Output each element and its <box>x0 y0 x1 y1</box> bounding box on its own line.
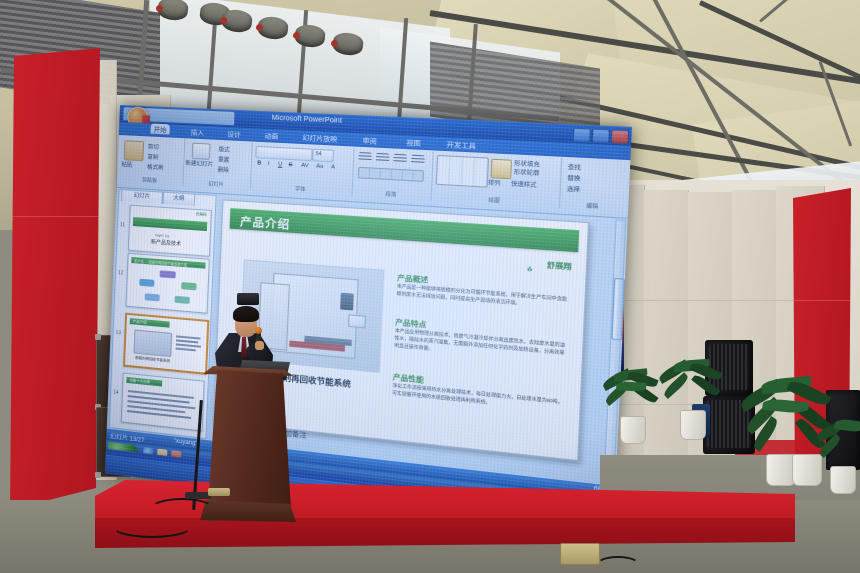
font-name-combo[interactable] <box>255 146 312 161</box>
align-icon[interactable] <box>393 154 407 164</box>
font-color-button[interactable]: A <box>331 164 335 170</box>
arrange-label[interactable]: 排列 <box>488 178 501 187</box>
line-spacing-icon[interactable] <box>411 155 425 165</box>
tab-slideshow[interactable]: 幻灯片放映 <box>302 132 337 144</box>
paragraph-extra-row[interactable] <box>358 167 424 182</box>
potted-plant <box>818 420 860 492</box>
group-label-paragraph: 段落 <box>351 188 430 200</box>
ie-icon[interactable] <box>143 447 153 458</box>
thumbnail-title: 新产品及技术 <box>151 238 181 247</box>
thumbnail-number: 12 <box>118 270 124 276</box>
font-size-value: 54 <box>315 151 321 158</box>
tab-developer[interactable]: 开发工具 <box>446 138 476 150</box>
presenter-hand <box>255 341 264 350</box>
tab-design[interactable]: 设计 <box>227 128 241 139</box>
powerpoint-icon[interactable] <box>171 450 181 461</box>
thumbnail-title: 设备十大优势 <box>129 378 150 385</box>
layout-label[interactable]: 版式 <box>218 145 230 154</box>
group-label-slides: 幻灯片 <box>182 179 250 190</box>
presenter-hair <box>233 306 259 322</box>
replace-label[interactable]: 替换 <box>567 174 580 183</box>
bullets-icon[interactable] <box>358 152 371 162</box>
powerpoint-window: Microsoft PowerPoint 开始 插入 设计 动画 幻灯片放映 审… <box>106 105 632 508</box>
restore-button[interactable] <box>592 128 611 143</box>
delete-label[interactable]: 删除 <box>217 165 229 174</box>
paste-label[interactable]: 粘贴 <box>121 160 132 169</box>
section-body-overview: 本产品是一种能够将脱模剂分化为可循环节能系统，用于解决生产车间中含脱模剂废水无法… <box>396 283 568 311</box>
shapes-gallery[interactable] <box>436 155 489 188</box>
potted-plant <box>602 370 662 442</box>
numbering-icon[interactable] <box>376 153 390 163</box>
thumbnail-slide[interactable]: 新产品 — 脱模剂再回收节能系统介绍 <box>125 253 209 314</box>
red-banner-left <box>10 48 100 510</box>
thumbnail-caption: 脱模剂再回收节能系统 <box>135 356 170 364</box>
shape-outline-label[interactable]: 形状轮廓 <box>514 167 540 177</box>
italic-button[interactable]: I <box>267 161 269 167</box>
group-label-font: 字体 <box>250 183 352 196</box>
podium <box>205 370 291 522</box>
section-body-performance: 净化工作流程采用热水分离处理技术，每日处理能力大，日处理水量为80吨，可实现循环… <box>392 383 563 414</box>
ribbon-group-clipboard: 粘贴 剪切 复制 格式刷 剪贴板 <box>117 136 186 186</box>
tab-home[interactable]: 开始 <box>150 123 169 134</box>
section-body-features: 本产品应用物理分离技术，将废气冷凝冷却并分离出废热水，去除废水里的油性水，隔除水… <box>394 328 566 365</box>
thumbnail-number: 14 <box>113 390 119 397</box>
duct-cap <box>256 24 263 31</box>
potted-plant <box>660 360 722 438</box>
new-slide-icon[interactable] <box>192 143 211 160</box>
ribbon-group-slides: 新建幻灯片 版式 重置 删除 幻灯片 <box>182 139 252 190</box>
font-size-combo[interactable]: 54 <box>312 149 334 163</box>
find-label[interactable]: 查找 <box>568 163 581 172</box>
plant-pot <box>620 416 646 444</box>
company-logo-icon <box>526 258 534 266</box>
thumbnail-number: 13 <box>115 330 121 336</box>
microphone-head-icon <box>255 327 262 334</box>
floor-cable <box>110 512 194 538</box>
bold-button[interactable]: B <box>257 160 261 166</box>
paste-icon[interactable] <box>124 140 145 161</box>
close-button[interactable] <box>611 129 630 144</box>
photo-scene: Microsoft PowerPoint 开始 插入 设计 动画 幻灯片放映 审… <box>0 0 860 573</box>
arrange-icon[interactable] <box>491 159 513 180</box>
duct-cap <box>331 40 338 47</box>
thumbnail-title: 新产品 — 脱模剂再回收节能系统介绍 <box>134 258 187 267</box>
slide-header-banner: 产品介绍 <box>230 208 580 252</box>
window-title: Microsoft PowerPoint <box>272 115 343 125</box>
tab-review[interactable]: 审阅 <box>362 134 377 145</box>
company-logo-text: 舒展翔 <box>547 260 572 273</box>
tab-view[interactable]: 视图 <box>406 136 421 147</box>
group-label-clipboard: 剪贴板 <box>117 175 183 186</box>
reset-label[interactable]: 重置 <box>218 155 230 164</box>
strikethrough-button[interactable]: S <box>288 162 292 168</box>
theme-name: "xuyang" <box>174 438 198 447</box>
format-painter-label[interactable]: 格式刷 <box>147 163 164 172</box>
thumbnail-item[interactable]: 11 舒展翔 PART 03 新产品及技术 <box>121 204 213 210</box>
pane-tab-outline[interactable]: 大纲 <box>163 192 196 206</box>
power-box-cable <box>596 556 640 573</box>
led-video-wall: Microsoft PowerPoint 开始 插入 设计 动画 幻灯片放映 审… <box>105 105 632 536</box>
power-strip <box>208 488 230 496</box>
thumbnail-logo: 舒展翔 <box>196 212 207 218</box>
char-spacing-button[interactable]: AV <box>301 163 309 170</box>
ribbon-group-paragraph: 段落 <box>351 148 433 201</box>
tab-animations[interactable]: 动画 <box>264 130 278 141</box>
select-label[interactable]: 选择 <box>567 184 580 193</box>
thumbnail-number: 11 <box>120 222 125 228</box>
plant-pot <box>680 410 706 440</box>
tab-insert[interactable]: 插入 <box>191 126 205 137</box>
potted-plant-large <box>742 378 828 484</box>
ribbon-group-editing: 查找 替换 选择 编辑 <box>559 158 628 212</box>
group-label-drawing: 绘图 <box>431 193 560 208</box>
thumbnail-slide[interactable]: 舒展翔 PART 03 新产品及技术 <box>128 205 212 257</box>
folder-icon[interactable] <box>157 449 167 460</box>
ribbon-group-font: 54 B I U S AV Aa A 字体 <box>250 143 355 196</box>
duct-cap <box>293 32 300 39</box>
duct-cap <box>220 17 227 24</box>
quick-styles-label[interactable]: 快速样式 <box>511 179 537 189</box>
copy-label[interactable]: 复制 <box>147 152 158 161</box>
minimize-button[interactable] <box>573 128 591 143</box>
thumbnail-slide[interactable]: 设备十大优势 <box>121 373 205 432</box>
pane-tab-slides[interactable]: 幻灯片 <box>121 189 163 204</box>
camera-box <box>237 293 259 305</box>
group-label-editing: 编辑 <box>559 200 626 212</box>
slide-title: 产品介绍 <box>240 213 291 233</box>
floor-power-box <box>560 543 600 565</box>
underline-button[interactable]: U <box>278 161 282 167</box>
new-slide-label[interactable]: 新建幻灯片 <box>185 159 213 169</box>
change-case-button[interactable]: Aa <box>316 163 323 170</box>
thumbnail-item-selected[interactable]: 13 产品介绍 脱模剂再回收节能系统 <box>116 312 208 320</box>
thumbnail-slide[interactable]: 产品介绍 脱模剂再回收节能系统 <box>123 313 209 375</box>
plant-pot <box>830 466 856 494</box>
cut-label[interactable]: 剪切 <box>148 142 159 151</box>
ribbon-group-drawing: 排列 快速样式 形状填充 形状轮廓 绘图 <box>431 151 563 208</box>
